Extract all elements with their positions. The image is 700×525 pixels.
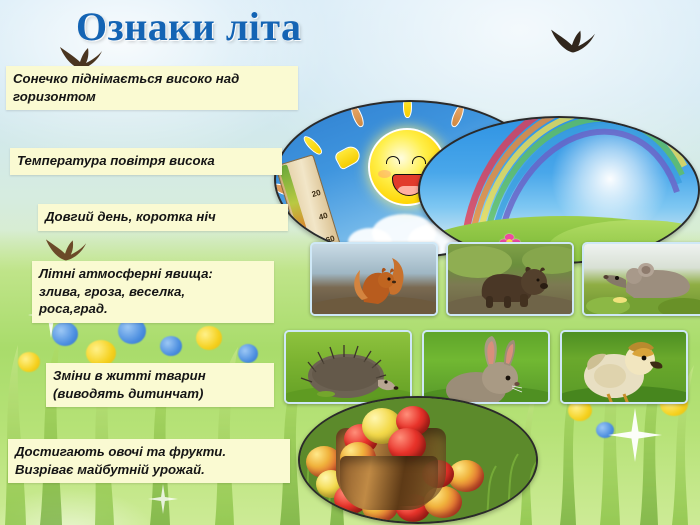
yellow-flower-decoration: [18, 352, 40, 372]
fact-box-animals: Зміни в житті тварин (виводять дитинчат): [46, 363, 274, 407]
animal-photo-rabbit: [422, 330, 550, 404]
apples-photo: [298, 396, 538, 524]
fact-box-weather: Літні атмосферні явища: злива, гроза, ве…: [32, 261, 274, 323]
fact-box-sun-high: Сонечко піднімається високо над горизонт…: [6, 66, 298, 110]
photo-collage: 20 40 60: [270, 18, 700, 525]
slide-canvas: Ознаки літа: [0, 0, 700, 525]
sun-eye-left: [386, 156, 400, 164]
blue-flower-decoration: [160, 336, 182, 356]
swallow-bird-icon: [44, 236, 88, 262]
animal-photo-squirrel: [310, 242, 438, 316]
fact-box-harvest: Достигають овочі та фрукти. Визріває май…: [8, 439, 290, 483]
animal-photo-mouse: [582, 242, 700, 316]
yellow-flower-decoration: [196, 326, 222, 350]
thermometer-mark-40: 40: [318, 211, 329, 222]
thermometer-mark-20: 20: [311, 188, 322, 199]
blue-flower-decoration: [238, 344, 258, 363]
fact-box-long-day: Довгий день, коротка ніч: [38, 204, 288, 231]
sun-cheek-left: [378, 170, 391, 178]
sun-hand-left: [333, 143, 363, 170]
animal-photo-bear-cub: [446, 242, 574, 316]
sun-eye-right: [412, 156, 426, 164]
wooden-basket-front: [340, 456, 438, 510]
animal-photo-duckling: [560, 330, 688, 404]
blue-flower-decoration: [52, 322, 78, 346]
fact-box-high-temp: Температура повітря висока: [10, 148, 282, 175]
animal-photo-hedgehog: [284, 330, 412, 404]
